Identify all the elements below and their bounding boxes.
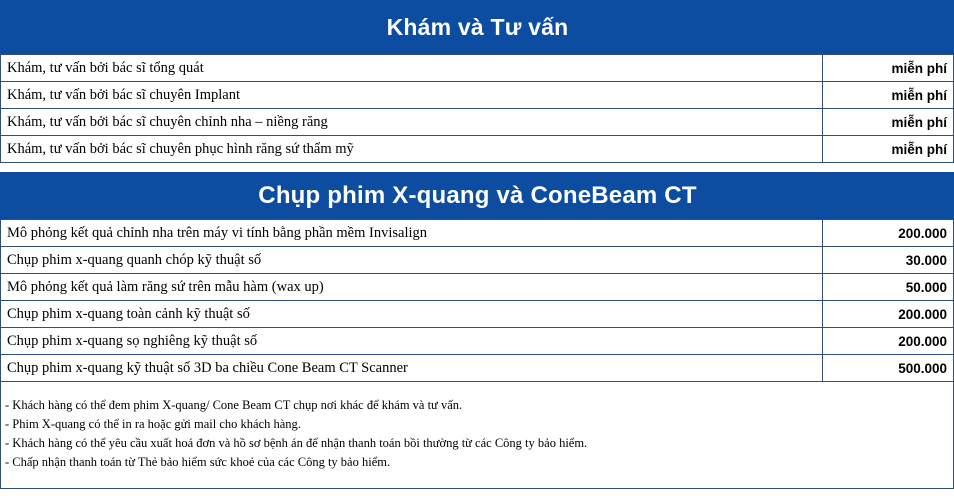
- price-table-kham-tu-van: Khám, tư vấn bởi bác sĩ tổng quát miễn p…: [0, 54, 954, 163]
- service-name: Khám, tư vấn bởi bác sĩ chuyên Implant: [1, 82, 823, 109]
- service-price: miễn phí: [823, 82, 954, 109]
- notes-block: - Khách hàng có thể đem phim X-quang/ Co…: [0, 382, 954, 489]
- service-name: Mô phỏng kết quả chỉnh nha trên máy vi t…: [1, 220, 823, 247]
- table-row: Mô phỏng kết quả làm răng sứ trên mẫu hà…: [1, 274, 954, 301]
- note-line: - Chấp nhận thanh toán từ Thẻ bảo hiểm s…: [5, 453, 953, 472]
- service-name: Khám, tư vấn bởi bác sĩ chuyên chỉnh nha…: [1, 109, 823, 136]
- table-row: Khám, tư vấn bởi bác sĩ chuyên chỉnh nha…: [1, 109, 954, 136]
- price-table-chup-phim-x-quang: Mô phỏng kết quả chỉnh nha trên máy vi t…: [0, 219, 954, 382]
- table-row: Khám, tư vấn bởi bác sĩ chuyên phục hình…: [1, 136, 954, 163]
- table-row: Chụp phim x-quang sọ nghiêng kỹ thuật số…: [1, 328, 954, 355]
- service-price: miễn phí: [823, 109, 954, 136]
- service-name: Khám, tư vấn bởi bác sĩ chuyên phục hình…: [1, 136, 823, 163]
- price-sheet: Khám và Tư vấn Khám, tư vấn bởi bác sĩ t…: [0, 0, 954, 489]
- service-price: 500.000: [823, 355, 954, 382]
- service-price: 200.000: [823, 220, 954, 247]
- service-name: Chụp phim x-quang kỹ thuật số 3D ba chiề…: [1, 355, 823, 382]
- service-name: Khám, tư vấn bởi bác sĩ tổng quát: [1, 55, 823, 82]
- service-name: Mô phỏng kết quả làm răng sứ trên mẫu hà…: [1, 274, 823, 301]
- note-line: - Khách hàng có thể đem phim X-quang/ Co…: [5, 396, 953, 415]
- service-price: miễn phí: [823, 136, 954, 163]
- service-price: 200.000: [823, 328, 954, 355]
- service-price: miễn phí: [823, 55, 954, 82]
- service-price: 50.000: [823, 274, 954, 301]
- table-row: Mô phỏng kết quả chỉnh nha trên máy vi t…: [1, 220, 954, 247]
- note-line: - Phim X-quang có thể in ra hoặc gửi mai…: [5, 415, 953, 434]
- section-spacer: [0, 163, 954, 172]
- table-row: Khám, tư vấn bởi bác sĩ tổng quát miễn p…: [1, 55, 954, 82]
- section-header-chup-phim-x-quang: Chụp phim X-quang và ConeBeam CT: [0, 172, 954, 219]
- table-row: Khám, tư vấn bởi bác sĩ chuyên Implant m…: [1, 82, 954, 109]
- note-line: - Khách hàng có thể yêu cầu xuất hoá đơn…: [5, 434, 953, 453]
- table-row: Chụp phim x-quang toàn cảnh kỹ thuật số …: [1, 301, 954, 328]
- section-header-kham-tu-van: Khám và Tư vấn: [0, 0, 954, 54]
- table-row: Chụp phim x-quang kỹ thuật số 3D ba chiề…: [1, 355, 954, 382]
- service-price: 30.000: [823, 247, 954, 274]
- service-name: Chụp phim x-quang quanh chóp kỹ thuật số: [1, 247, 823, 274]
- table-row: Chụp phim x-quang quanh chóp kỹ thuật số…: [1, 247, 954, 274]
- service-price: 200.000: [823, 301, 954, 328]
- service-name: Chụp phim x-quang sọ nghiêng kỹ thuật số: [1, 328, 823, 355]
- service-name: Chụp phim x-quang toàn cảnh kỹ thuật số: [1, 301, 823, 328]
